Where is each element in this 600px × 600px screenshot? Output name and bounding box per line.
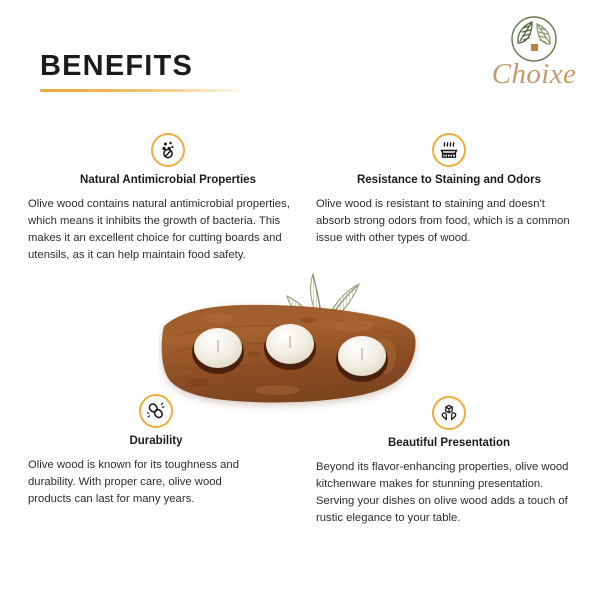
hands-holding-box-icon: [438, 402, 460, 424]
benefit-body: Olive wood is resistant to staining and …: [308, 196, 576, 247]
benefit-card-antimicrobial: Natural Antimicrobial Properties Olive w…: [28, 133, 290, 264]
benefit-title: Resistance to Staining and Odors: [308, 174, 576, 188]
title-underline-rule: [40, 89, 250, 92]
brand-wordmark: Choixe: [480, 60, 588, 89]
benefit-body: Beyond its flavor-enhancing properties, …: [308, 459, 576, 528]
benefit-icon-container: [308, 133, 576, 167]
steaming-dish-icon: [438, 139, 460, 161]
page-header: BENEFITS Choixe: [0, 0, 600, 118]
bacteria-free-icon-circle: [151, 133, 185, 167]
benefit-title: Natural Antimicrobial Properties: [28, 174, 290, 188]
benefit-card-staining-odors: Resistance to Staining and Odors Olive w…: [308, 133, 576, 247]
benefit-body: Olive wood contains natural antimicrobia…: [28, 196, 290, 265]
steaming-dish-icon-circle: [432, 133, 466, 167]
olive-wood-candle-holder-icon: [158, 290, 424, 415]
benefit-body: Olive wood is known for its toughness an…: [28, 457, 268, 508]
product-image: [150, 268, 440, 418]
benefit-title: Durability: [28, 435, 268, 449]
bacteria-free-icon: [157, 139, 179, 161]
page-title: BENEFITS: [40, 52, 193, 81]
benefit-icon-container: [28, 133, 290, 167]
brand-logo: Choixe: [480, 14, 588, 89]
benefit-title: Beautiful Presentation: [308, 437, 576, 451]
olive-leaves-circle-logo-icon: [504, 14, 564, 64]
